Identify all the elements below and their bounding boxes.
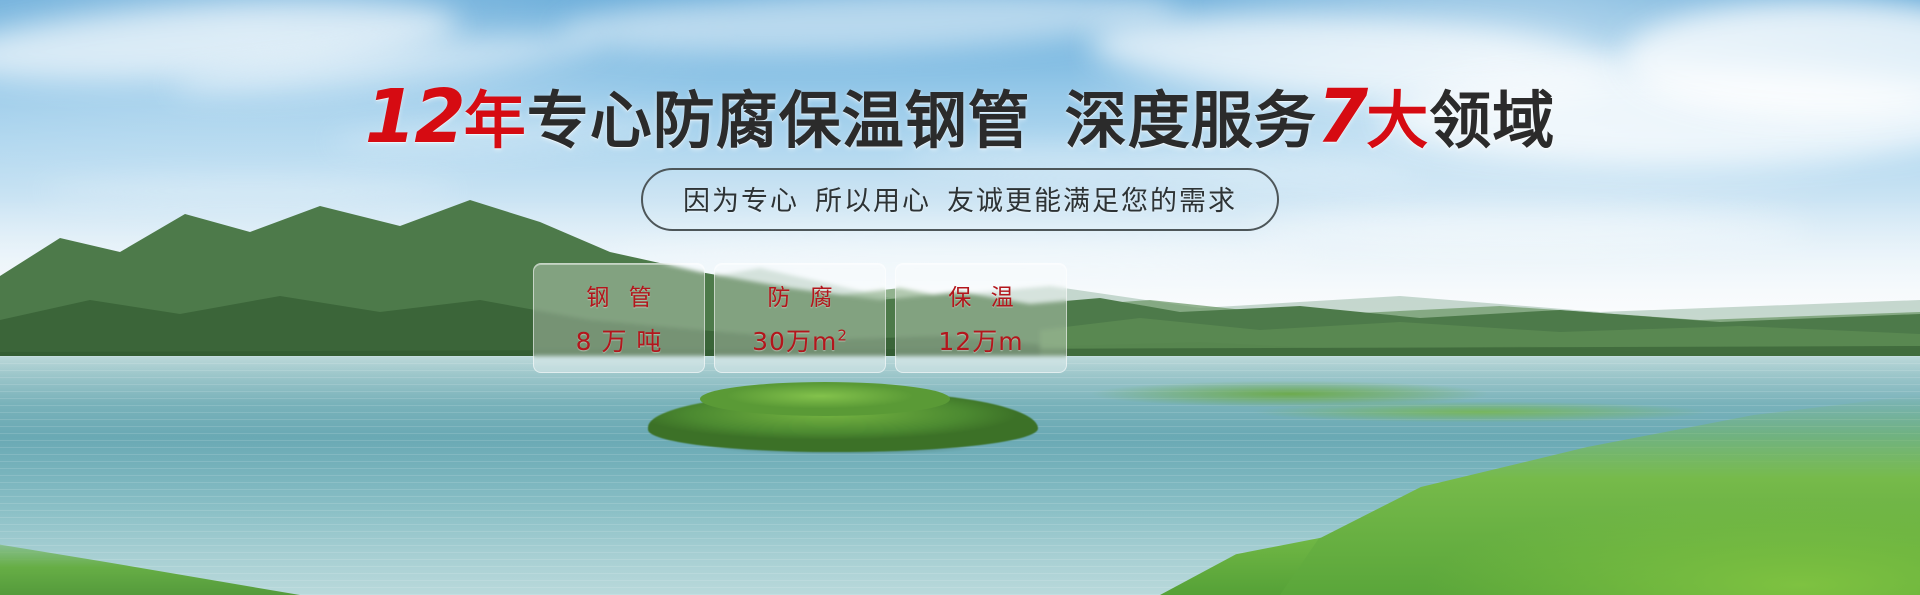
banner-headline: 12年专心防腐保温钢管深度服务7大领域 (0, 80, 1920, 154)
stat-card-value: 30万m2 (752, 322, 848, 358)
stat-card-value-text: 8 万 吨 (576, 327, 663, 356)
stat-card-group: 钢 管 8 万 吨 防 腐 30万m2 保 温 12万m (533, 263, 1067, 373)
headline-fields-text: 领域 (1429, 84, 1555, 157)
banner-subtitle-wrapper: 因为专心所以用心友诚更能满足您的需求 (0, 168, 1920, 231)
hero-banner: 12年专心防腐保温钢管深度服务7大领域 因为专心所以用心友诚更能满足您的需求 钢… (0, 0, 1920, 595)
stat-card-insulation: 保 温 12万m (895, 263, 1067, 373)
headline-years-number: 12 (365, 74, 464, 160)
headline-years-unit: 年 (464, 84, 527, 157)
stat-card-value: 12万m (938, 322, 1023, 358)
subtitle-part-3: 友诚更能满足您的需求 (947, 186, 1237, 217)
stat-card-value-text: 30万m (752, 327, 837, 356)
stat-card-label: 防 腐 (761, 278, 838, 312)
stat-card-value-superscript: 2 (837, 327, 848, 345)
subtitle-part-1: 因为专心 (683, 186, 799, 217)
stat-card-anticorrosion: 防 腐 30万m2 (714, 263, 886, 373)
stat-card-value: 8 万 吨 (576, 322, 663, 358)
subtitle-part-2: 所以用心 (815, 186, 931, 217)
banner-subtitle-pill: 因为专心所以用心友诚更能满足您的需求 (641, 168, 1279, 231)
stat-card-label: 钢 管 (580, 278, 657, 312)
stat-card-label: 保 温 (942, 278, 1019, 312)
headline-fields-big: 大 (1366, 84, 1429, 157)
stat-card-steel-pipe: 钢 管 8 万 吨 (533, 263, 705, 373)
banner-content: 12年专心防腐保温钢管深度服务7大领域 因为专心所以用心友诚更能满足您的需求 钢… (0, 0, 1920, 595)
headline-main-text: 专心防腐保温钢管 (527, 84, 1031, 157)
headline-service-text: 深度服务 (1065, 84, 1317, 157)
stat-card-value-text: 12万m (938, 327, 1023, 356)
headline-fields-number: 7 (1317, 74, 1367, 160)
